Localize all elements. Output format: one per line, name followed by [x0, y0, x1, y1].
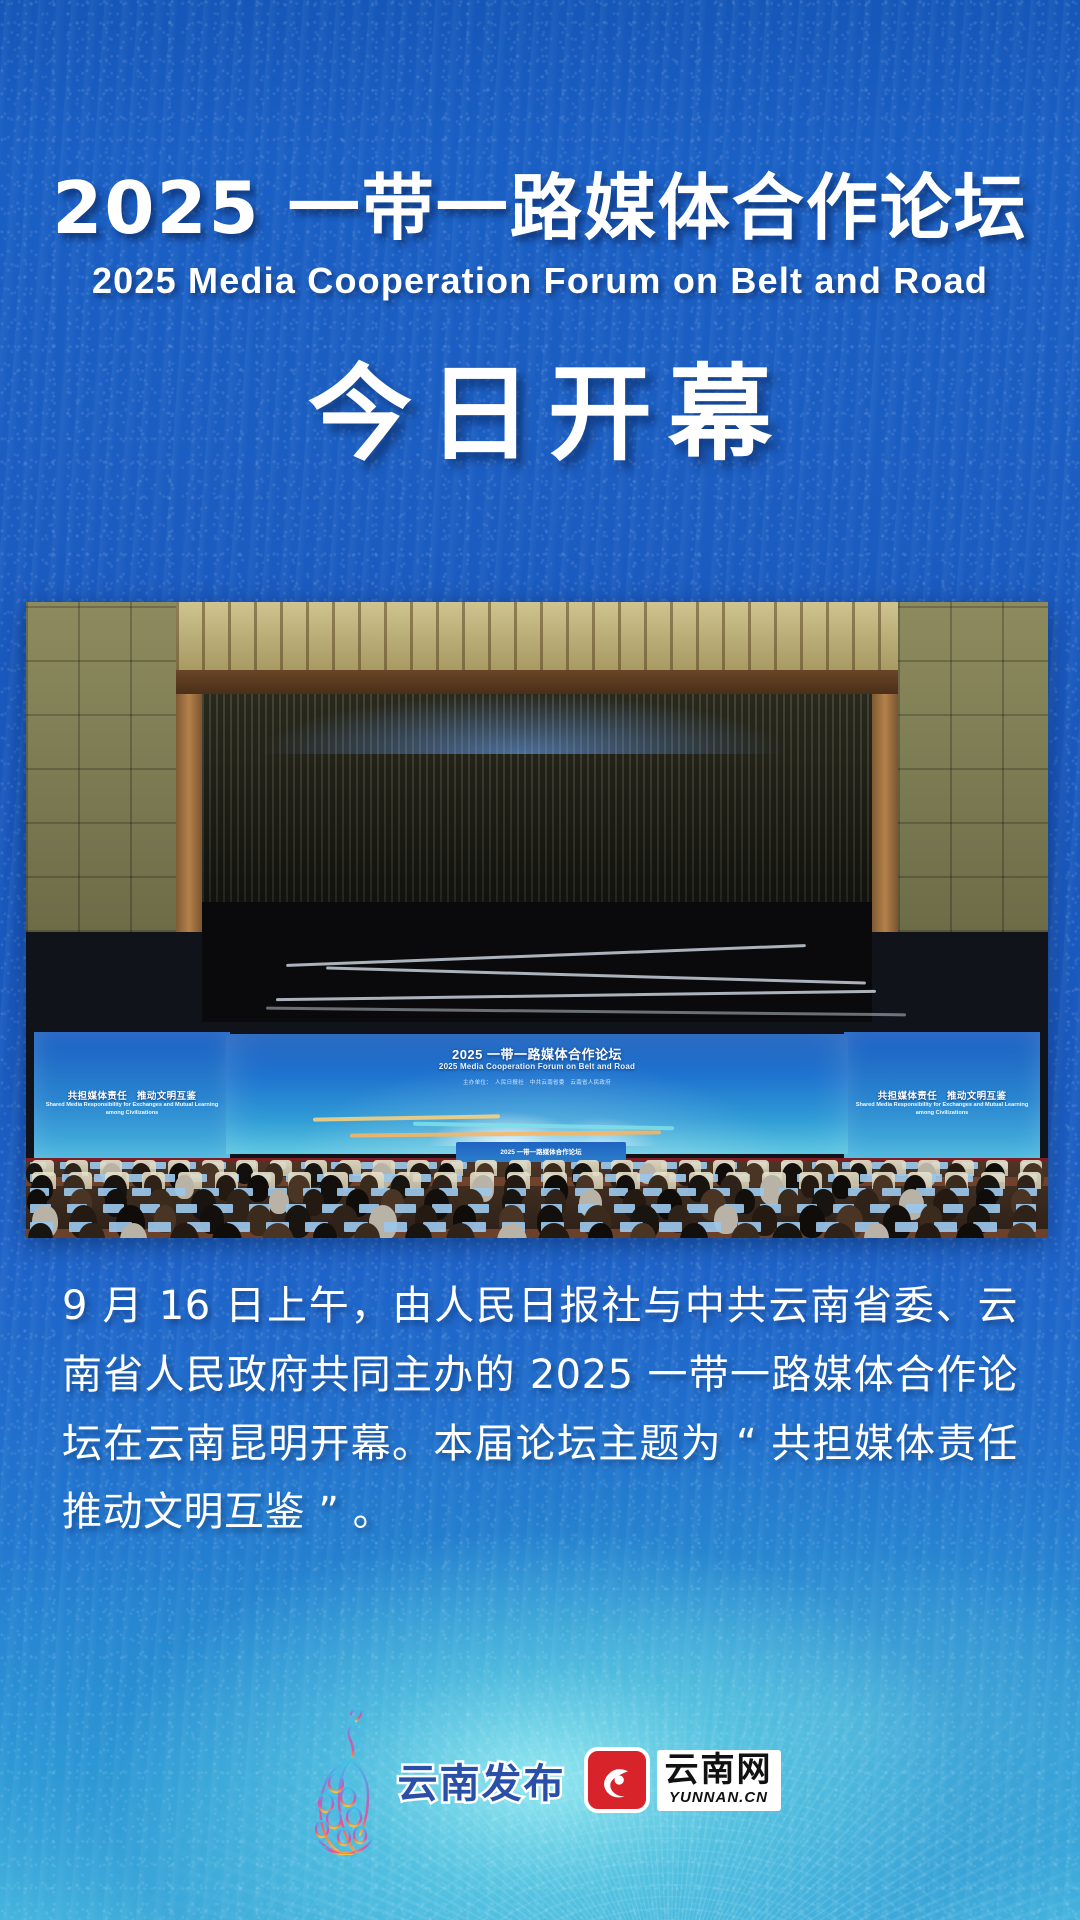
photo-desk-paper	[132, 1188, 151, 1196]
photo-wall-right	[898, 602, 1048, 932]
yunnan-wang-mark-icon	[584, 1747, 650, 1813]
article-body-text: 9 月 16 日上午，由人民日报社与中共云南省委、云南省人民政府共同主办的 20…	[62, 1272, 1018, 1547]
photo-side-slogan-en: Shared Media Responsibility for Exchange…	[40, 1102, 224, 1117]
photo-side-slogan-en: Shared Media Responsibility for Exchange…	[850, 1102, 1034, 1117]
forum-title-english: 2025 Media Cooperation Forum on Belt and…	[0, 260, 1080, 302]
logo-yunnan-fabu[interactable]: 云南发布	[300, 1705, 566, 1855]
photo-desk-paper	[943, 1204, 964, 1213]
photo-desk-paper	[405, 1188, 424, 1196]
poster-canvas: 2025 一带一路媒体合作论坛 2025 Media Cooperation F…	[0, 0, 1080, 1920]
photo-ceiling-valance	[176, 602, 898, 670]
photo-desk-paper	[395, 1204, 416, 1213]
photo-desk-paper	[882, 1188, 901, 1196]
forum-title-chinese: 2025 一带一路媒体合作论坛	[0, 172, 1080, 244]
title-block: 2025 一带一路媒体合作论坛 2025 Media Cooperation F…	[0, 172, 1080, 469]
photo-desk-paper	[384, 1222, 407, 1232]
headline-opens-today: 今日开幕	[0, 360, 1080, 469]
photo-side-slogan-cn: 共担媒体责任 推动文明互鉴	[34, 1088, 230, 1102]
photo-stage-light-glow	[256, 694, 788, 754]
photo-side-panel-right: 共担媒体责任 推动文明互鉴 Shared Media Responsibilit…	[844, 1032, 1040, 1158]
photo-attendee	[778, 1189, 799, 1216]
photo-podium-label: 2025 一带一路媒体合作论坛	[456, 1146, 626, 1156]
photo-desk-paper	[677, 1188, 696, 1196]
logo-yunnan-wang[interactable]: 云南网 YUNNAN.CN	[584, 1747, 781, 1813]
photo-side-panel-left: 共担媒体责任 推动文明互鉴 Shared Media Responsibilit…	[34, 1032, 230, 1158]
photo-audience-seating	[26, 1162, 1048, 1238]
photo-attendee	[78, 1223, 104, 1238]
yunnan-wang-text-block: 云南网 YUNNAN.CN	[657, 1750, 781, 1811]
photo-screen-mountain-graphic	[338, 1098, 761, 1146]
photo-desk-paper	[148, 1222, 171, 1232]
event-photo: 共担媒体责任 推动文明互鉴 Shared Media Responsibilit…	[26, 602, 1048, 1238]
photo-proscenium-arch	[176, 670, 898, 694]
photo-stage-backdrop	[202, 902, 872, 1022]
photo-desk-paper	[176, 1204, 197, 1213]
photo-side-slogan-cn: 共担媒体责任 推动文明互鉴	[844, 1088, 1040, 1102]
photo-screen-title-cn: 2025 一带一路媒体合作论坛	[226, 1044, 848, 1063]
photo-screen-organizers: 主办单位： 人民日报社 中共云南省委 云南省人民政府	[226, 1078, 848, 1086]
peacock-icon	[300, 1705, 392, 1855]
logo-yunnan-fabu-label: 云南发布	[398, 1751, 566, 1809]
photo-desk-paper	[895, 1222, 918, 1232]
footer-logos: 云南发布 云南网 YUNNAN.CN	[0, 1700, 1080, 1860]
photo-main-led-screen: 2025 一带一路媒体合作论坛 2025 Media Cooperation F…	[226, 1034, 848, 1154]
photo-desk-paper	[687, 1204, 708, 1213]
photo-desk-paper	[659, 1222, 682, 1232]
photo-wall-left	[26, 602, 176, 932]
logo-yunnan-wang-label-cn: 云南网	[665, 1753, 773, 1787]
logo-yunnan-wang-label-en: YUNNAN.CN	[665, 1789, 773, 1807]
photo-screen-title-en: 2025 Media Cooperation Forum on Belt and…	[226, 1062, 848, 1071]
